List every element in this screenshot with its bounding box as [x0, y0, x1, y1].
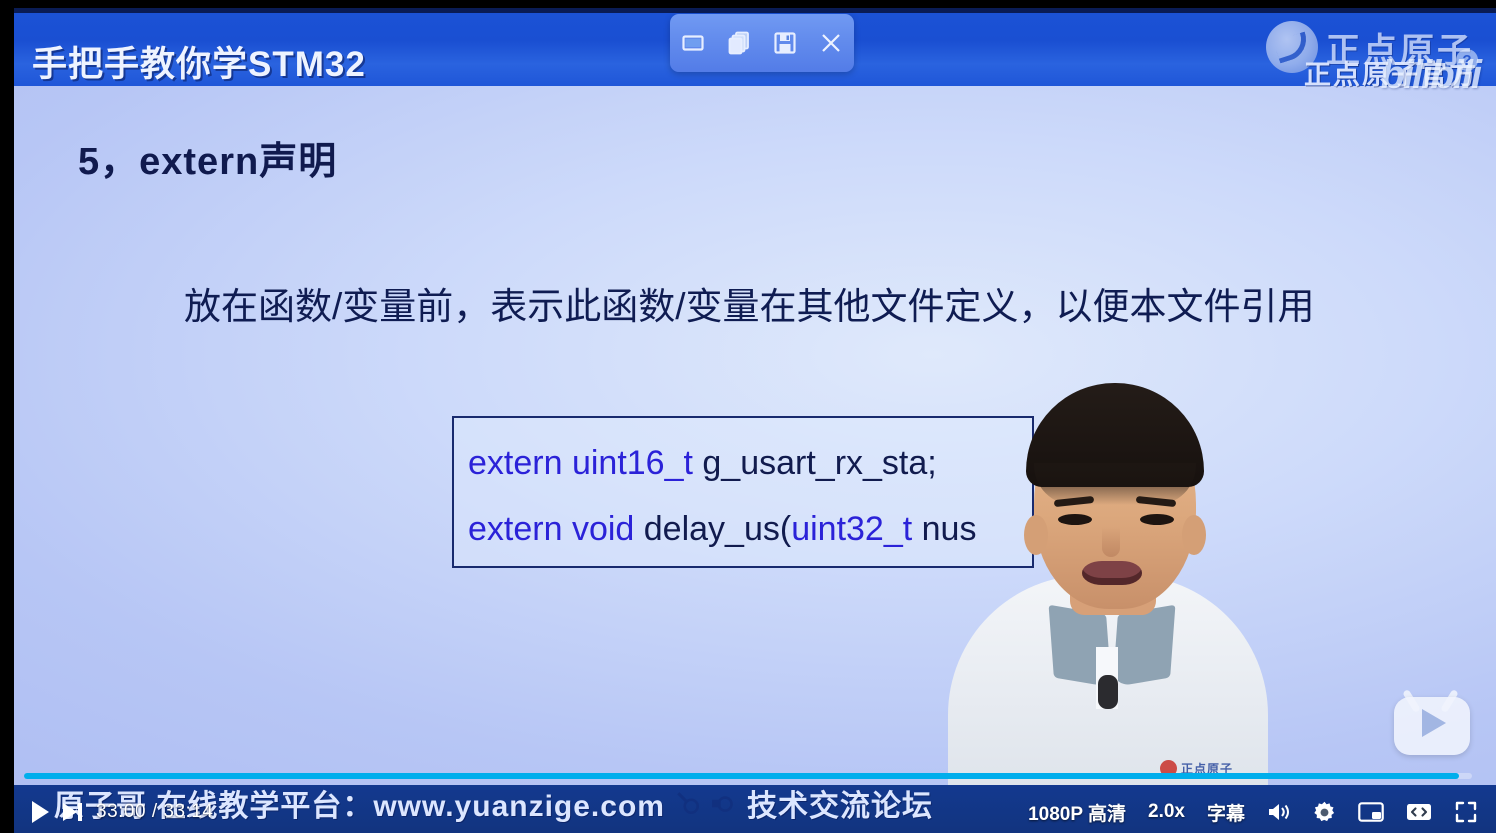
copy-pages-icon[interactable]: [722, 28, 756, 58]
code-identifier: g_usart_rx_sta;: [693, 444, 937, 482]
window-icon[interactable]: [676, 28, 710, 58]
slide-header-title: 手把手教你学STM32: [32, 36, 366, 87]
code-identifier: delay_us(: [634, 510, 791, 548]
code-line-2: extern void delay_us(uint32_t nus: [468, 510, 976, 549]
code-type: uint32_t: [791, 510, 912, 548]
time-display: 33:00 / 33:14: [96, 801, 213, 823]
controls-right-group: 1080P 高清 2.0x 字幕: [1028, 799, 1478, 826]
save-floppy-icon[interactable]: [768, 28, 802, 58]
presentation-slide: 手把手教你学STM32 正点原子 正点原子官方 bilibili ?: [14, 8, 1496, 833]
video-surface[interactable]: 手把手教你学STM32 正点原子 正点原子官方 bilibili ?: [14, 8, 1496, 833]
playback-speed-selector[interactable]: 2.0x: [1148, 801, 1185, 823]
web-fullscreen-icon[interactable]: [1406, 803, 1432, 821]
video-player: 手把手教你学STM32 正点原子 正点原子官方 bilibili ?: [0, 0, 1496, 833]
floating-toolbar[interactable]: [670, 14, 854, 72]
presenter-collar-right: [1113, 605, 1176, 688]
picture-in-picture-icon[interactable]: [1358, 802, 1384, 822]
gear-icon[interactable]: [1313, 801, 1336, 824]
help-badge-icon[interactable]: ?: [1456, 49, 1478, 71]
presenter-mouth: [1082, 561, 1142, 585]
controls-left-group: 33:00 / 33:14: [32, 801, 213, 823]
presenter-ear-right: [1182, 515, 1206, 555]
presenter-video-overlay: 正点原子: [930, 375, 1282, 805]
code-keyword: extern uint16_t: [468, 444, 693, 482]
presenter-eye-right: [1140, 514, 1174, 525]
slide-title: 5，extern声明: [78, 130, 337, 185]
close-icon[interactable]: [814, 28, 848, 58]
player-control-bar: 33:00 / 33:14 1080P 高清 2.0x 字幕: [14, 791, 1496, 833]
next-episode-button[interactable]: [63, 803, 82, 821]
subtitle-button[interactable]: 字幕: [1207, 799, 1245, 826]
lapel-microphone: [1098, 675, 1118, 709]
play-button[interactable]: [32, 801, 49, 823]
code-line-1: extern uint16_t g_usart_rx_sta;: [468, 444, 937, 483]
progress-fill: [24, 773, 1459, 779]
progress-bar[interactable]: [14, 771, 1480, 781]
quality-selector[interactable]: 1080P 高清: [1028, 799, 1126, 826]
volume-icon[interactable]: [1267, 801, 1291, 823]
presenter-ear-left: [1024, 515, 1048, 555]
presenter-nose: [1102, 527, 1120, 557]
slide-body-text: 放在函数/变量前，表示此函数/变量在其他文件定义，以便本文件引用: [184, 276, 1315, 330]
bilibili-tv-logo-icon: [1394, 693, 1470, 755]
code-keyword: extern void: [468, 510, 634, 548]
fullscreen-icon[interactable]: [1454, 800, 1478, 824]
presenter-eye-left: [1058, 514, 1092, 525]
